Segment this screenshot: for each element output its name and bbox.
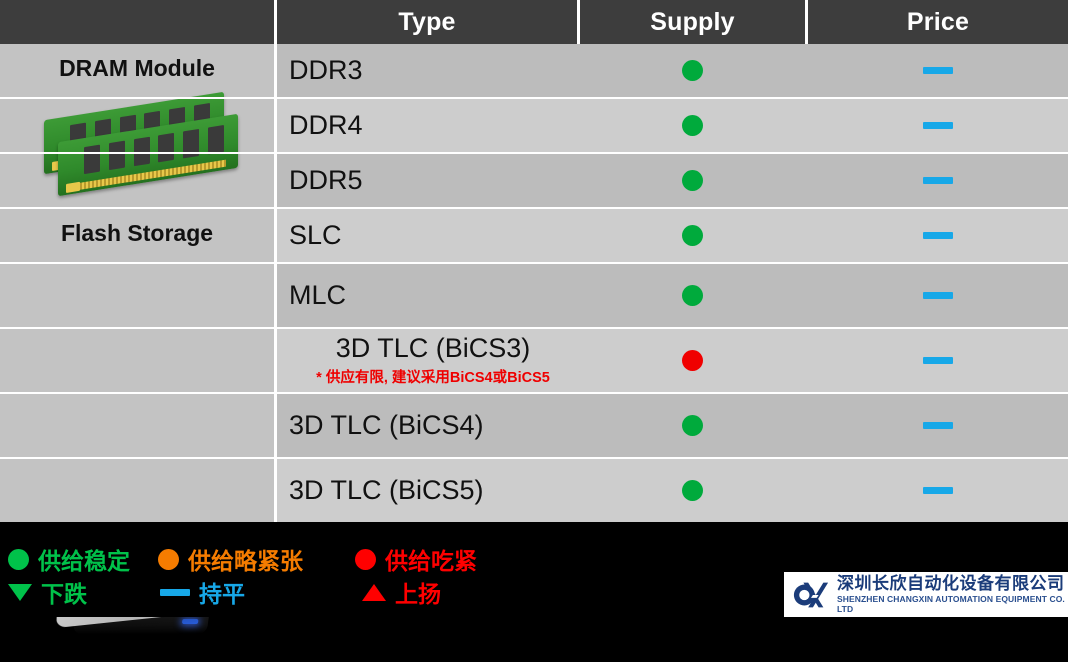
slide-canvas: Type Supply Price DRAM Module bbox=[0, 0, 1068, 617]
cell-price bbox=[808, 394, 1068, 457]
cyan-dash-icon bbox=[923, 487, 953, 494]
legend-item-supply-stable: 供给稳定 bbox=[8, 542, 130, 576]
cell-type: SLC bbox=[277, 209, 577, 262]
dram-notch-front bbox=[66, 182, 80, 193]
cyan-dash-icon bbox=[923, 177, 953, 184]
cell-price bbox=[808, 44, 1068, 97]
cyan-dash-icon bbox=[923, 357, 953, 364]
changxin-logo-icon bbox=[792, 576, 830, 614]
ssd-led-icon bbox=[182, 619, 199, 624]
legend-label: 供给略紧张 bbox=[188, 542, 303, 576]
up-triangle-icon bbox=[362, 584, 386, 601]
legend-item-price-flat: 持平 bbox=[160, 575, 245, 609]
category-label-flash: Flash Storage bbox=[0, 209, 274, 247]
legend-item-supply-tight: 供给略紧张 bbox=[158, 542, 303, 576]
green-circle-icon bbox=[682, 480, 703, 501]
green-circle-icon bbox=[682, 285, 703, 306]
legend-item-price-up: 上扬 bbox=[362, 575, 441, 609]
table-header-row: Type Supply Price bbox=[0, 0, 1068, 44]
header-supply: Supply bbox=[580, 0, 805, 44]
table-row[interactable]: DDR4 bbox=[277, 99, 1068, 152]
cell-supply bbox=[580, 394, 805, 457]
company-logo: 深圳长欣自动化设备有限公司 SHENZHEN CHANGXIN AUTOMATI… bbox=[784, 572, 1068, 617]
cell-type: 3D TLC (BiCS4) bbox=[277, 394, 577, 457]
type-label: 3D TLC (BiCS3) bbox=[336, 334, 531, 362]
header-type: Type bbox=[277, 0, 577, 44]
legend-item-supply-short: 供给吃紧 bbox=[355, 542, 477, 576]
type-label: SLC bbox=[289, 221, 342, 249]
cell-type: DDR4 bbox=[277, 99, 577, 152]
type-label: 3D TLC (BiCS4) bbox=[289, 411, 484, 439]
red-circle-icon bbox=[682, 350, 703, 371]
green-circle-icon bbox=[682, 170, 703, 191]
cell-supply bbox=[580, 459, 805, 522]
header-blank bbox=[0, 0, 274, 44]
legend-label: 上扬 bbox=[395, 575, 441, 609]
cell-price bbox=[808, 459, 1068, 522]
cyan-dash-icon bbox=[923, 232, 953, 239]
cyan-dash-icon bbox=[923, 422, 953, 429]
cell-supply bbox=[580, 44, 805, 97]
type-label: DDR3 bbox=[289, 56, 363, 84]
cell-price bbox=[808, 99, 1068, 152]
cyan-dash-icon bbox=[160, 589, 190, 596]
green-circle-icon bbox=[8, 549, 29, 570]
red-circle-icon bbox=[355, 549, 376, 570]
logo-text-block: 深圳长欣自动化设备有限公司 SHENZHEN CHANGXIN AUTOMATI… bbox=[837, 575, 1068, 614]
cell-type: 3D TLC (BiCS3) * 供应有限, 建议采用BiCS4或BiCS5 bbox=[277, 329, 577, 392]
type-label: MLC bbox=[289, 281, 346, 309]
green-circle-icon bbox=[682, 415, 703, 436]
table-row[interactable]: DDR3 bbox=[277, 44, 1068, 97]
category-flash-storage: Flash Storage SSD bbox=[0, 209, 274, 522]
table-row[interactable]: 3D TLC (BiCS4) bbox=[277, 394, 1068, 457]
table-row[interactable]: 3D TLC (BiCS3) * 供应有限, 建议采用BiCS4或BiCS5 bbox=[277, 329, 1068, 392]
cell-supply bbox=[580, 329, 805, 392]
cell-type: DDR5 bbox=[277, 154, 577, 207]
legend-label: 下跌 bbox=[41, 575, 87, 609]
supply-warning-note: * 供应有限, 建议采用BiCS4或BiCS5 bbox=[316, 366, 550, 387]
cell-type: DDR3 bbox=[277, 44, 577, 97]
green-circle-icon bbox=[682, 225, 703, 246]
cyan-dash-icon bbox=[923, 292, 953, 299]
header-price: Price bbox=[808, 0, 1068, 44]
logo-company-name-cn: 深圳长欣自动化设备有限公司 bbox=[837, 575, 1068, 594]
table-row[interactable]: DDR5 bbox=[277, 154, 1068, 207]
cell-price bbox=[808, 264, 1068, 327]
cell-price bbox=[808, 209, 1068, 262]
cell-supply bbox=[580, 209, 805, 262]
cell-price bbox=[808, 329, 1068, 392]
type-label: 3D TLC (BiCS5) bbox=[289, 476, 484, 504]
legend-label: 供给稳定 bbox=[38, 542, 130, 576]
cell-supply bbox=[580, 154, 805, 207]
logo-company-name-en: SHENZHEN CHANGXIN AUTOMATION EQUIPMENT C… bbox=[837, 594, 1068, 614]
legend-label: 持平 bbox=[199, 575, 245, 609]
cell-supply bbox=[580, 264, 805, 327]
legend-label: 供给吃紧 bbox=[385, 542, 477, 576]
down-triangle-icon bbox=[8, 584, 32, 601]
orange-circle-icon bbox=[158, 549, 179, 570]
category-dram-module: DRAM Module bbox=[0, 44, 274, 207]
legend-supply-row: 供给稳定 供给略紧张 供给吃紧 bbox=[0, 542, 1068, 576]
supply-price-table: Type Supply Price DRAM Module bbox=[0, 0, 1068, 522]
green-circle-icon bbox=[682, 115, 703, 136]
table-row[interactable]: MLC bbox=[277, 264, 1068, 327]
cell-price bbox=[808, 154, 1068, 207]
type-label: DDR5 bbox=[289, 166, 363, 194]
cyan-dash-icon bbox=[923, 67, 953, 74]
dram-module-image bbox=[34, 98, 240, 194]
legend-item-price-down: 下跌 bbox=[8, 575, 87, 609]
green-circle-icon bbox=[682, 60, 703, 81]
table-row[interactable]: SLC bbox=[277, 209, 1068, 262]
cell-type: 3D TLC (BiCS5) bbox=[277, 459, 577, 522]
cyan-dash-icon bbox=[923, 122, 953, 129]
table-row[interactable]: 3D TLC (BiCS5) bbox=[277, 459, 1068, 522]
category-label-dram: DRAM Module bbox=[0, 44, 274, 82]
type-label: DDR4 bbox=[289, 111, 363, 139]
cell-type: MLC bbox=[277, 264, 577, 327]
cell-supply bbox=[580, 99, 805, 152]
